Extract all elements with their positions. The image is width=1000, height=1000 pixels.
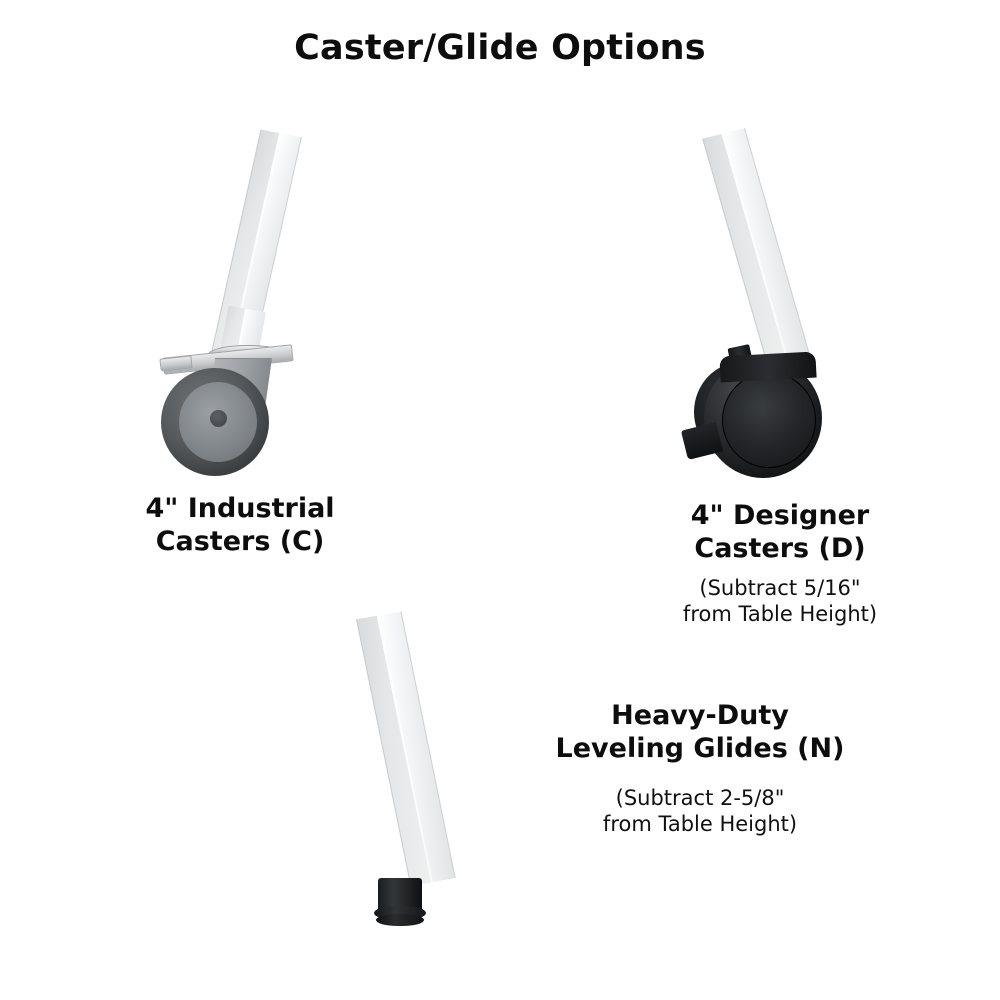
caption-designer-casters: 4" Designer Casters (D) [600, 500, 960, 566]
table-leg [702, 128, 813, 377]
page-title: Caster/Glide Options [0, 28, 1000, 68]
leveling-glide-base [376, 914, 424, 926]
leg-outline [356, 611, 456, 886]
option-industrial-casters: 4" Industrial Casters (C) [60, 110, 420, 570]
subnote-leveling-glides: (Subtract 2-5/8" from Table Height) [500, 785, 900, 838]
designer-caster-illustration [600, 110, 960, 485]
caption-leveling-glides: Heavy-Duty Leveling Glides (N) [500, 700, 900, 766]
designer-caster-housing [719, 352, 816, 383]
industrial-caster-illustration [60, 110, 420, 470]
caption-industrial-casters: 4" Industrial Casters (C) [60, 493, 420, 559]
subnote-designer-casters: (Subtract 5/16" from Table Height) [600, 575, 960, 628]
table-leg [356, 611, 456, 886]
leg-outline [702, 128, 813, 377]
option-designer-casters: 4" Designer Casters (D) (Subtract 5/16" … [600, 110, 960, 640]
caster-wheel-axle [210, 410, 227, 427]
designer-caster-wheel-face [722, 372, 816, 468]
option-leveling-glides: Heavy-Duty Leveling Glides (N) (Subtract… [300, 600, 560, 940]
